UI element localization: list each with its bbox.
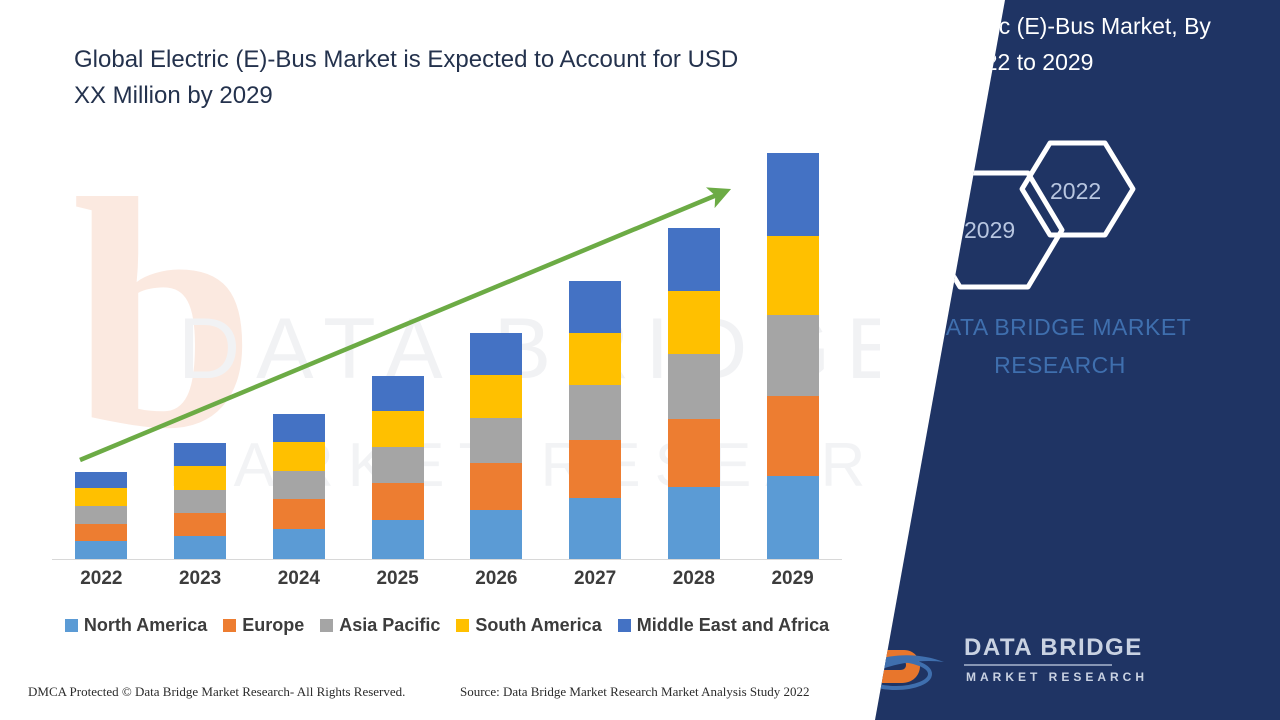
bar-segment [767, 153, 819, 236]
bar-segment [767, 476, 819, 559]
legend-label: Middle East and Africa [637, 615, 829, 636]
bar-column-2026 [447, 140, 546, 559]
legend-item[interactable]: Asia Pacific [320, 615, 440, 636]
stacked-bar [668, 228, 720, 559]
x-axis-line [52, 559, 842, 560]
legend-item[interactable]: South America [456, 615, 601, 636]
bar-segment [668, 291, 720, 354]
bar-segment [273, 414, 325, 443]
bar-segment [569, 385, 621, 440]
bar-segment [174, 513, 226, 536]
bar-segment [372, 483, 424, 520]
bar-segment [273, 499, 325, 529]
bar-column-2029 [743, 140, 842, 559]
bar-segment [569, 281, 621, 333]
stacked-bar [470, 333, 522, 559]
x-axis-label-2026: 2026 [447, 568, 546, 590]
brand-name-line-2: RESEARCH [860, 346, 1260, 384]
bar-column-2027 [546, 140, 645, 559]
bar-segment [273, 471, 325, 500]
plot-area [52, 140, 842, 560]
page-title: Global Electric (E)-Bus Market is Expect… [74, 42, 774, 114]
x-axis-label-2025: 2025 [348, 568, 447, 590]
legend-item[interactable]: Europe [223, 615, 304, 636]
x-axis-label-2029: 2029 [743, 568, 842, 590]
stacked-bar [372, 376, 424, 559]
bar-segment [767, 396, 819, 476]
bar-segment [372, 411, 424, 446]
legend-swatch-icon [320, 619, 333, 632]
brand-name: DATA BRIDGE MARKET RESEARCH [860, 308, 1260, 384]
stacked-bar [569, 281, 621, 559]
bar-segment [75, 506, 127, 524]
bar-segment [569, 440, 621, 498]
bar-segment [75, 524, 127, 542]
bar-segment [767, 236, 819, 315]
bar-segment [668, 228, 720, 291]
legend-label: Europe [242, 615, 304, 636]
legend-swatch-icon [223, 619, 236, 632]
bar-segment [569, 333, 621, 385]
logo-name-secondary: MARKET RESEARCH [966, 670, 1148, 684]
chart-legend: North AmericaEuropeAsia PacificSouth Ame… [52, 615, 842, 636]
bar-segment [470, 418, 522, 463]
bar-segment [470, 333, 522, 375]
bar-segment [75, 541, 127, 559]
logo-divider [964, 664, 1112, 666]
legend-item[interactable]: Middle East and Africa [618, 615, 829, 636]
legend-label: North America [84, 615, 207, 636]
legend-swatch-icon [618, 619, 631, 632]
legend-swatch-icon [65, 619, 78, 632]
bar-segment [372, 376, 424, 411]
stacked-bar [174, 443, 226, 559]
bar-segment [372, 447, 424, 483]
legend-label: South America [475, 615, 601, 636]
bar-segment [569, 498, 621, 559]
bar-segment [75, 488, 127, 506]
bar-segment [470, 375, 522, 418]
hexagon-2029-label: 2029 [964, 217, 1015, 244]
stacked-bar [75, 472, 127, 559]
bar-segment [668, 419, 720, 487]
brand-name-line-1: DATA BRIDGE MARKET [860, 308, 1260, 346]
bar-segment [470, 510, 522, 559]
bar-segment [174, 536, 226, 559]
hexagon-badges: 2022 2029 [900, 125, 1160, 295]
bar-segment [767, 315, 819, 395]
stacked-bar [767, 153, 819, 559]
bar-column-2023 [151, 140, 250, 559]
bar-column-2028 [645, 140, 744, 559]
legend-item[interactable]: North America [65, 615, 207, 636]
bar-group [52, 140, 842, 559]
bar-segment [668, 487, 720, 559]
company-logo: DATA BRIDGE MARKET RESEARCH [852, 628, 1272, 698]
logo-name-primary: DATA BRIDGE [964, 634, 1143, 662]
legend-label: Asia Pacific [339, 615, 440, 636]
info-panel: Global Electric (E)-Bus Market, By Regio… [840, 0, 1280, 720]
info-panel-title: Global Electric (E)-Bus Market, By Regio… [862, 8, 1262, 80]
hexagon-2022-label: 2022 [1050, 178, 1101, 205]
x-axis-label-2028: 2028 [645, 568, 744, 590]
bar-segment [174, 466, 226, 489]
chart-panel: b DATA BRIDGE MARKET RESEARCH Global Ele… [0, 0, 880, 720]
x-axis-labels: 20222023202420252026202720282029 [52, 568, 842, 590]
bar-segment [372, 520, 424, 559]
stacked-bar [273, 414, 325, 560]
bar-segment [75, 472, 127, 489]
bar-column-2022 [52, 140, 151, 559]
footer-source-text: Source: Data Bridge Market Research Mark… [460, 684, 809, 700]
bar-segment [174, 490, 226, 513]
bar-column-2024 [250, 140, 349, 559]
x-axis-label-2023: 2023 [151, 568, 250, 590]
bar-segment [273, 529, 325, 559]
bar-segment [668, 354, 720, 419]
x-axis-label-2027: 2027 [546, 568, 645, 590]
x-axis-label-2024: 2024 [250, 568, 349, 590]
bar-segment [273, 442, 325, 471]
bar-segment [470, 463, 522, 510]
x-axis-label-2022: 2022 [52, 568, 151, 590]
bar-column-2025 [348, 140, 447, 559]
footer-dmca-text: DMCA Protected © Data Bridge Market Rese… [28, 684, 405, 700]
legend-swatch-icon [456, 619, 469, 632]
bar-segment [174, 443, 226, 466]
